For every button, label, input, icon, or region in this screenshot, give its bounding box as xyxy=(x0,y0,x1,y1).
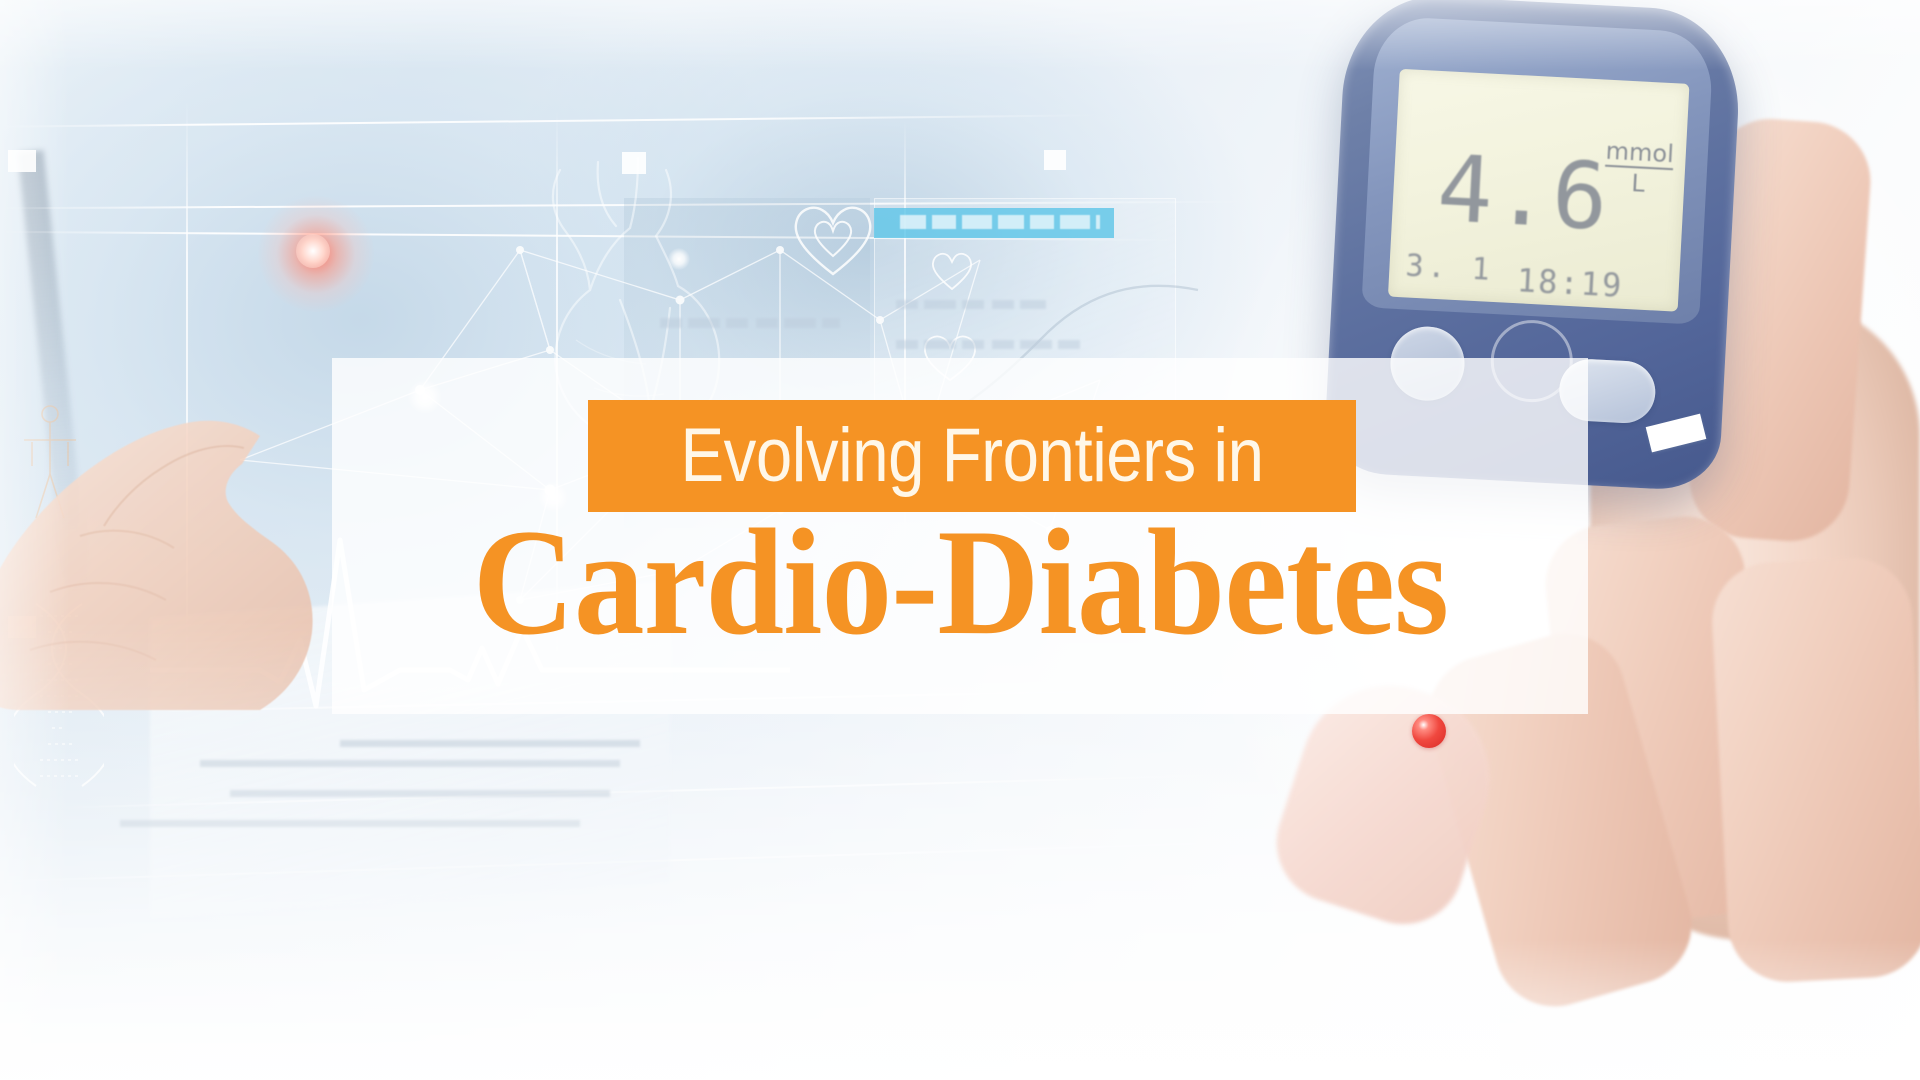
hero-banner: 4.6 mmol L 3. 1 18:19 Evolving Frontiers… xyxy=(0,0,1920,1080)
glucose-reading-value: 4.6 xyxy=(1435,148,1611,240)
unit-denominator: L xyxy=(1603,165,1673,200)
page-title: Cardio-Diabetes xyxy=(472,506,1447,658)
meter-date: 3. 1 xyxy=(1405,248,1495,288)
hud-text-block xyxy=(896,340,1086,349)
title-headline-wrap: Cardio-Diabetes xyxy=(332,512,1588,652)
fingertip-touch-core xyxy=(296,234,330,268)
unit-numerator: mmol xyxy=(1605,137,1674,169)
little-finger xyxy=(1709,555,1920,985)
glucose-reading-unit: mmol L xyxy=(1603,137,1674,199)
title-eyebrow-banner: Evolving Frontiers in xyxy=(588,400,1356,512)
blood-drop-icon xyxy=(1412,714,1446,748)
network-node-glow xyxy=(668,248,690,270)
title-eyebrow-text: Evolving Frontiers in xyxy=(680,418,1263,494)
hud-text-block xyxy=(660,318,840,328)
hud-text-block xyxy=(896,300,1046,309)
heart-outline-large-icon xyxy=(790,200,876,280)
frame-corner-marker xyxy=(8,150,36,172)
meter-lcd-screen: 4.6 mmol L 3. 1 18:19 xyxy=(1388,69,1690,312)
meter-time: 18:19 xyxy=(1516,261,1624,305)
